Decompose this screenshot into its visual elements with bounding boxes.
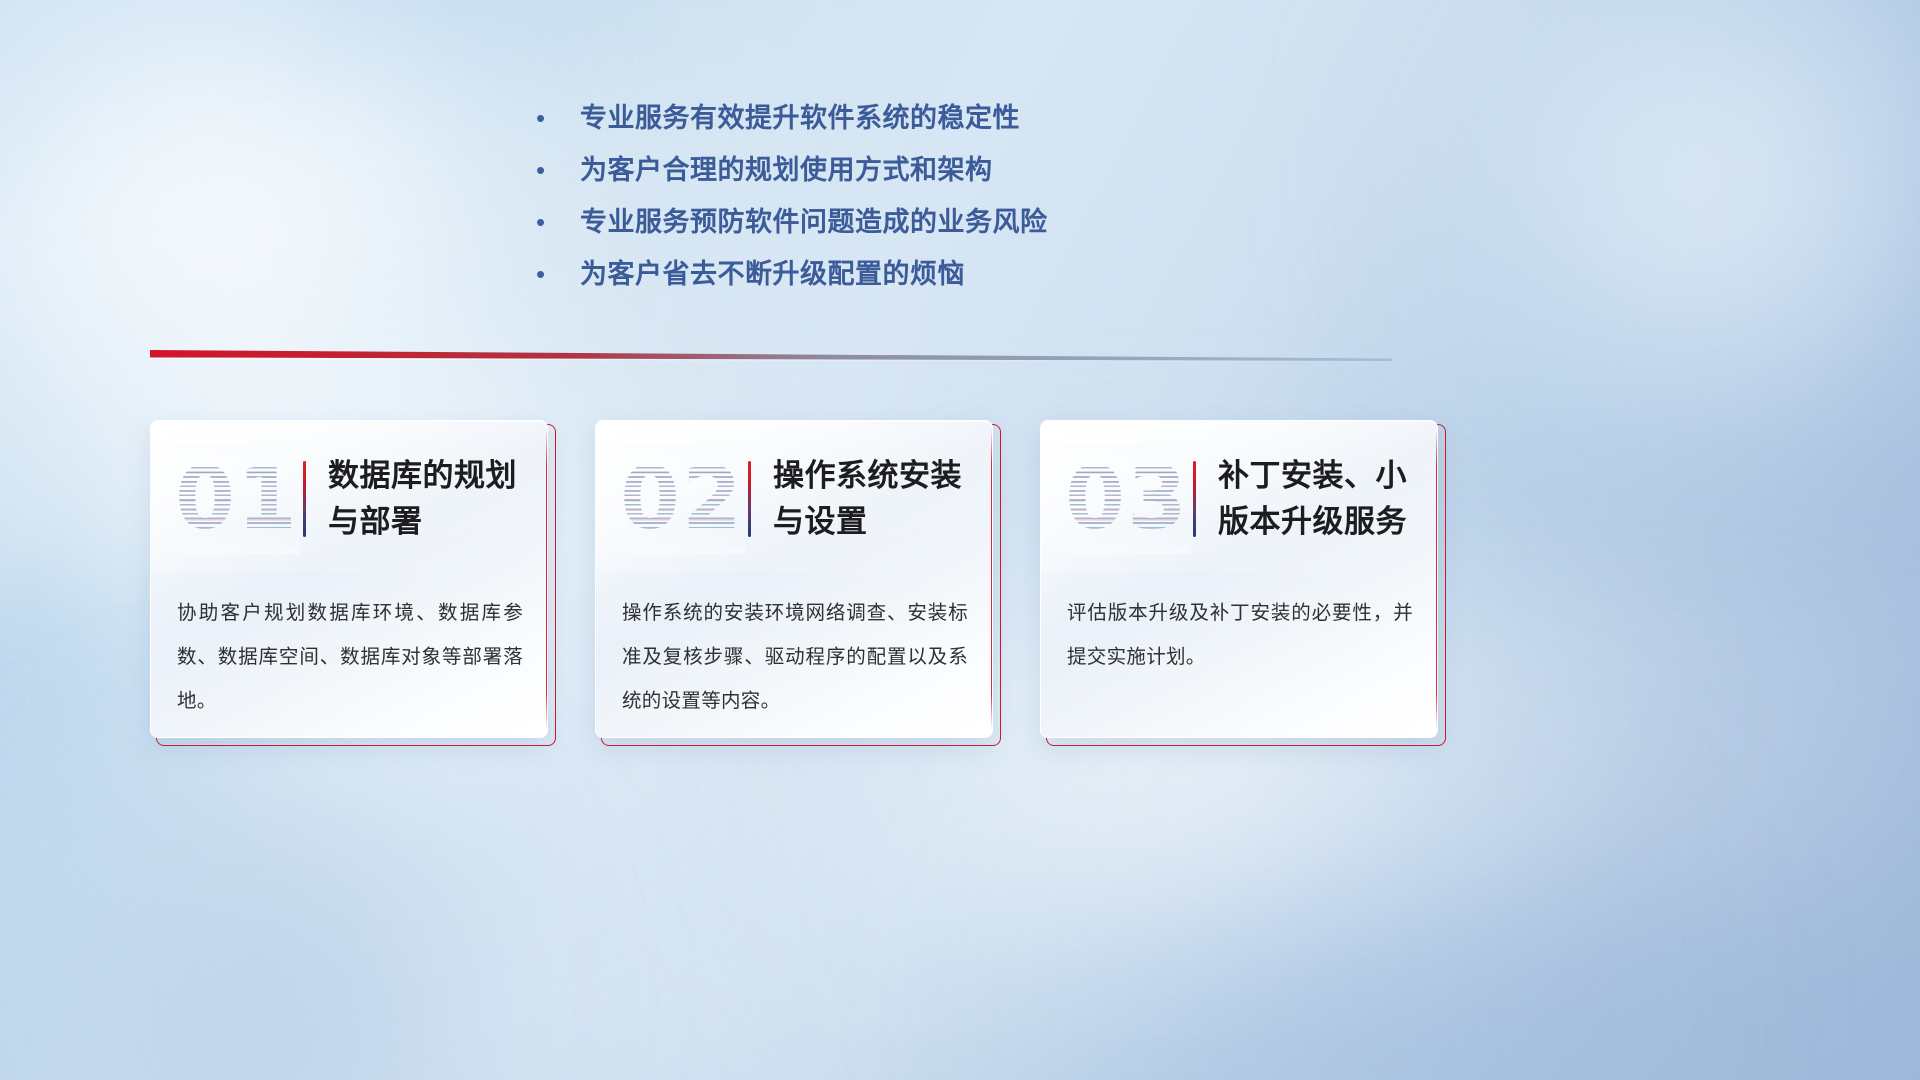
service-card-01[interactable]: 01 01 数据库的规划与部署 协助客户规划数据库环境、数据库参数、数据库空间、… xyxy=(150,420,550,745)
card-surface: 02 02 操作系统安装与设置 操作系统的安装环境网络调查、安装标准及复核步骤、… xyxy=(595,420,993,738)
list-item: • 专业服务有效提升软件系统的稳定性 xyxy=(536,92,1296,144)
section-divider xyxy=(150,348,1392,364)
card-number-watermark: 02 02 xyxy=(618,444,746,554)
list-item: • 为客户合理的规划使用方式和架构 xyxy=(536,144,1296,196)
card-body-text: 协助客户规划数据库环境、数据库参数、数据库空间、数据库对象等部署落地。 xyxy=(177,591,523,723)
card-number-fade xyxy=(618,444,746,554)
bullet-dot-icon: • xyxy=(536,144,580,196)
list-item: • 专业服务预防软件问题造成的业务风险 xyxy=(536,196,1296,248)
benefits-bullet-list: • 专业服务有效提升软件系统的稳定性 • 为客户合理的规划使用方式和架构 • 专… xyxy=(536,92,1296,300)
bullet-dot-icon: • xyxy=(536,196,580,248)
card-header: 01 01 数据库的规划与部署 xyxy=(151,439,547,559)
card-number-fade xyxy=(173,444,301,554)
service-card-row: 01 01 数据库的规划与部署 协助客户规划数据库环境、数据库参数、数据库空间、… xyxy=(150,420,1450,745)
bullet-text: 为客户省去不断升级配置的烦恼 xyxy=(580,248,965,300)
tapered-rule-icon xyxy=(150,348,1392,364)
card-surface: 01 01 数据库的规划与部署 协助客户规划数据库环境、数据库参数、数据库空间、… xyxy=(150,420,548,738)
card-title: 操作系统安装与设置 xyxy=(773,453,987,545)
bullet-dot-icon: • xyxy=(536,92,580,144)
card-number-watermark: 01 01 xyxy=(173,444,301,554)
card-title: 数据库的规划与部署 xyxy=(328,453,542,545)
card-number-fade xyxy=(1063,444,1191,554)
card-body-text: 操作系统的安装环境网络调查、安装标准及复核步骤、驱动程序的配置以及系统的设置等内… xyxy=(622,591,968,723)
bullet-text: 专业服务有效提升软件系统的稳定性 xyxy=(580,92,1020,144)
card-header: 03 03 补丁安装、小版本升级服务 xyxy=(1041,439,1437,559)
card-body-text: 评估版本升级及补丁安装的必要性，并提交实施计划。 xyxy=(1067,591,1413,679)
service-card-02[interactable]: 02 02 操作系统安装与设置 操作系统的安装环境网络调查、安装标准及复核步骤、… xyxy=(595,420,995,745)
bullet-text: 专业服务预防软件问题造成的业务风险 xyxy=(580,196,1048,248)
card-title-divider-bar xyxy=(303,461,306,537)
card-title-divider-bar xyxy=(1193,461,1196,537)
bullet-text: 为客户合理的规划使用方式和架构 xyxy=(580,144,993,196)
service-card-03[interactable]: 03 03 补丁安装、小版本升级服务 评估版本升级及补丁安装的必要性，并提交实施… xyxy=(1040,420,1440,745)
card-title-divider-bar xyxy=(748,461,751,537)
list-item: • 为客户省去不断升级配置的烦恼 xyxy=(536,248,1296,300)
card-number-watermark: 03 03 xyxy=(1063,444,1191,554)
bullet-dot-icon: • xyxy=(536,248,580,300)
card-surface: 03 03 补丁安装、小版本升级服务 评估版本升级及补丁安装的必要性，并提交实施… xyxy=(1040,420,1438,738)
card-header: 02 02 操作系统安装与设置 xyxy=(596,439,992,559)
card-title: 补丁安装、小版本升级服务 xyxy=(1218,453,1432,545)
